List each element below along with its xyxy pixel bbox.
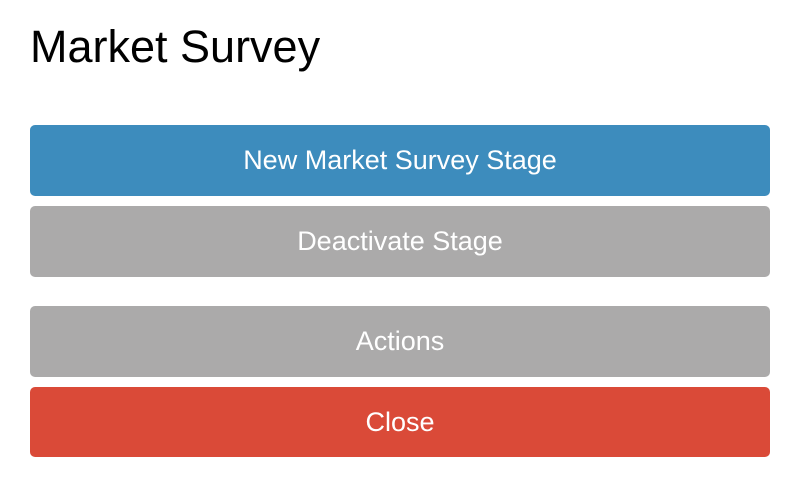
deactivate-stage-button[interactable]: Deactivate Stage [30,206,770,277]
action-button-stack: New Market Survey Stage Deactivate Stage… [30,125,770,457]
new-market-survey-stage-button[interactable]: New Market Survey Stage [30,125,770,196]
close-button[interactable]: Close [30,387,770,457]
market-survey-panel: Market Survey New Market Survey Stage De… [0,0,800,488]
actions-button[interactable]: Actions [30,306,770,377]
page-title: Market Survey [30,19,320,75]
